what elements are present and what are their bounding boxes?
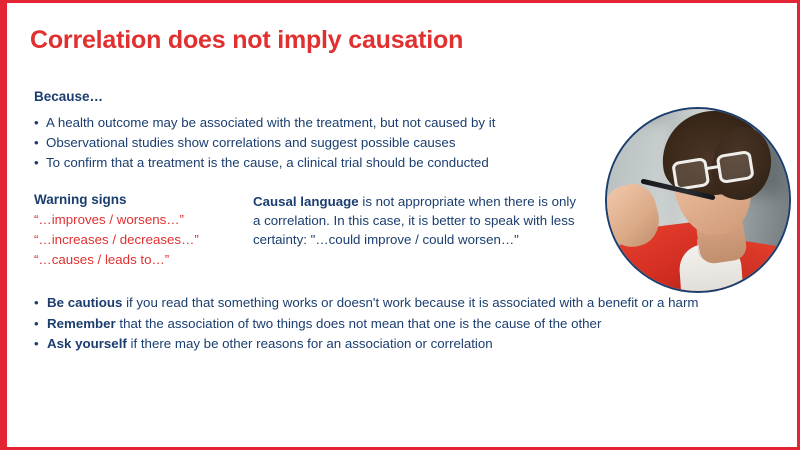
page-title: Correlation does not imply causation xyxy=(30,26,463,55)
advice-list: Be cautious if you read that something w… xyxy=(34,294,754,356)
warning-phrase: “…causes / leads to…” xyxy=(34,250,249,270)
slide: Correlation does not imply causation Bec… xyxy=(0,0,800,450)
warning-phrase: “…increases / decreases…” xyxy=(34,230,249,250)
advice-lead: Be cautious xyxy=(47,295,122,310)
list-item: A health outcome may be associated with … xyxy=(34,113,594,133)
photo-glasses-lens-right xyxy=(715,150,754,184)
causal-language-block: Causal language is not appropriate when … xyxy=(253,192,578,249)
list-item: Remember that the association of two thi… xyxy=(34,315,754,334)
advice-lead: Ask yourself xyxy=(47,336,127,351)
warning-phrase: “…improves / worsens…” xyxy=(34,210,249,230)
because-list: A health outcome may be associated with … xyxy=(34,113,594,173)
advice-body: if there may be other reasons for an ass… xyxy=(127,336,493,351)
advice-body: if you read that something works or does… xyxy=(122,295,698,310)
list-item: Observational studies show correlations … xyxy=(34,133,594,153)
portrait-photo xyxy=(605,107,791,293)
warning-signs-block: Warning signs “…improves / worsens…” “…i… xyxy=(34,192,249,270)
footer: Cochrane Iberoamérica Keys for critical … xyxy=(3,375,797,447)
list-item: Ask yourself if there may be other reaso… xyxy=(34,335,754,354)
photo-glasses-bridge xyxy=(706,165,718,170)
list-item: Be cautious if you read that something w… xyxy=(34,294,754,313)
because-heading: Because… xyxy=(34,89,103,104)
list-item: To confirm that a treatment is the cause… xyxy=(34,153,594,173)
advice-lead: Remember xyxy=(47,316,116,331)
advice-body: that the association of two things does … xyxy=(116,316,602,331)
warning-signs-heading: Warning signs xyxy=(34,192,249,207)
causal-language-lead: Causal language xyxy=(253,194,359,209)
